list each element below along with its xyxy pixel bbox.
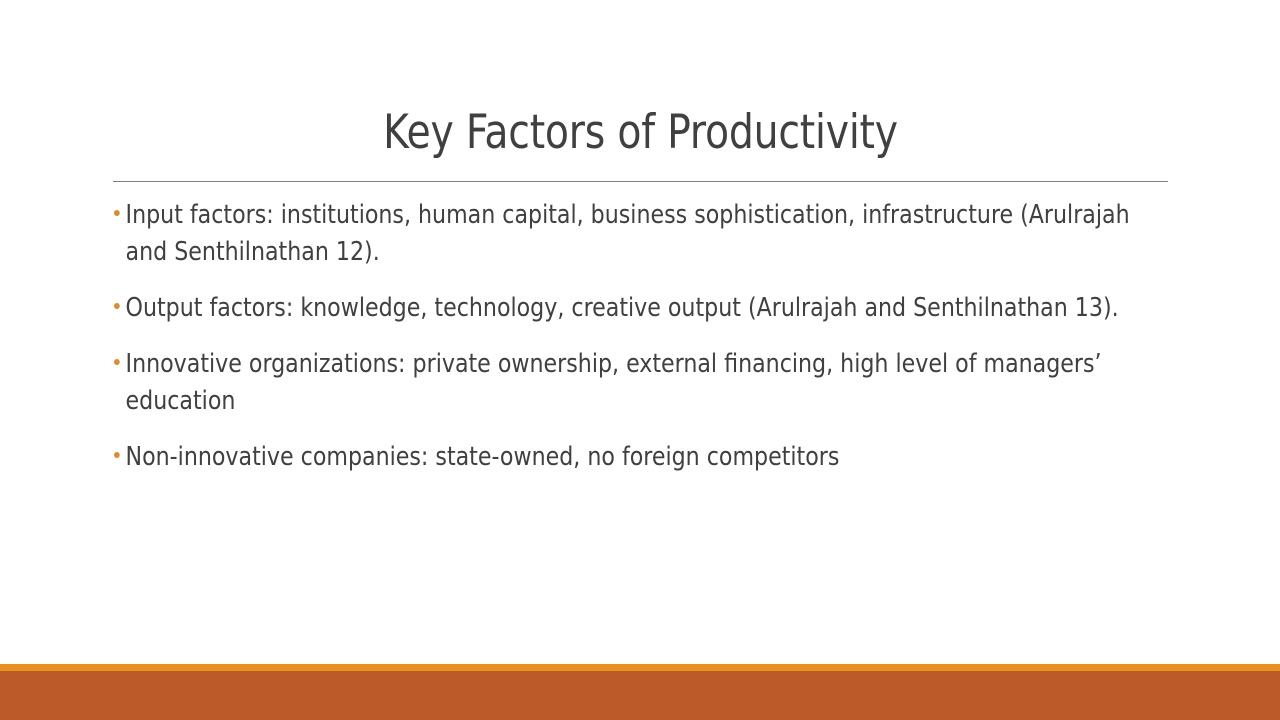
footer-accent-band-dark bbox=[0, 671, 1280, 720]
list-item[interactable]: Output factors: knowledge, technology, c… bbox=[113, 290, 1146, 327]
slide-canvas: Key Factors of Productivity Input factor… bbox=[0, 0, 1280, 720]
bullet-dot-icon bbox=[114, 452, 120, 458]
content-placeholder[interactable]: Input factors: institutions, human capit… bbox=[113, 197, 1183, 476]
list-item[interactable]: Input factors: institutions, human capit… bbox=[113, 197, 1146, 271]
bullet-dot-icon bbox=[114, 359, 120, 365]
list-item-label: Innovative organizations: private owners… bbox=[126, 346, 1146, 420]
bullet-dot-icon bbox=[114, 210, 120, 216]
list-item-label: Output factors: knowledge, technology, c… bbox=[126, 290, 1146, 327]
title-divider-rule bbox=[113, 181, 1168, 182]
list-item[interactable]: Innovative organizations: private owners… bbox=[113, 346, 1146, 420]
bullet-dot-icon bbox=[114, 303, 120, 309]
list-item[interactable]: Non-innovative companies: state-owned, n… bbox=[113, 439, 1146, 476]
title-placeholder[interactable]: Key Factors of Productivity bbox=[113, 104, 1168, 162]
page-title: Key Factors of Productivity bbox=[150, 104, 1131, 162]
footer-accent-band-light bbox=[0, 664, 1280, 671]
list-item-label: Non-innovative companies: state-owned, n… bbox=[126, 439, 1146, 476]
list-item-label: Input factors: institutions, human capit… bbox=[126, 197, 1146, 271]
